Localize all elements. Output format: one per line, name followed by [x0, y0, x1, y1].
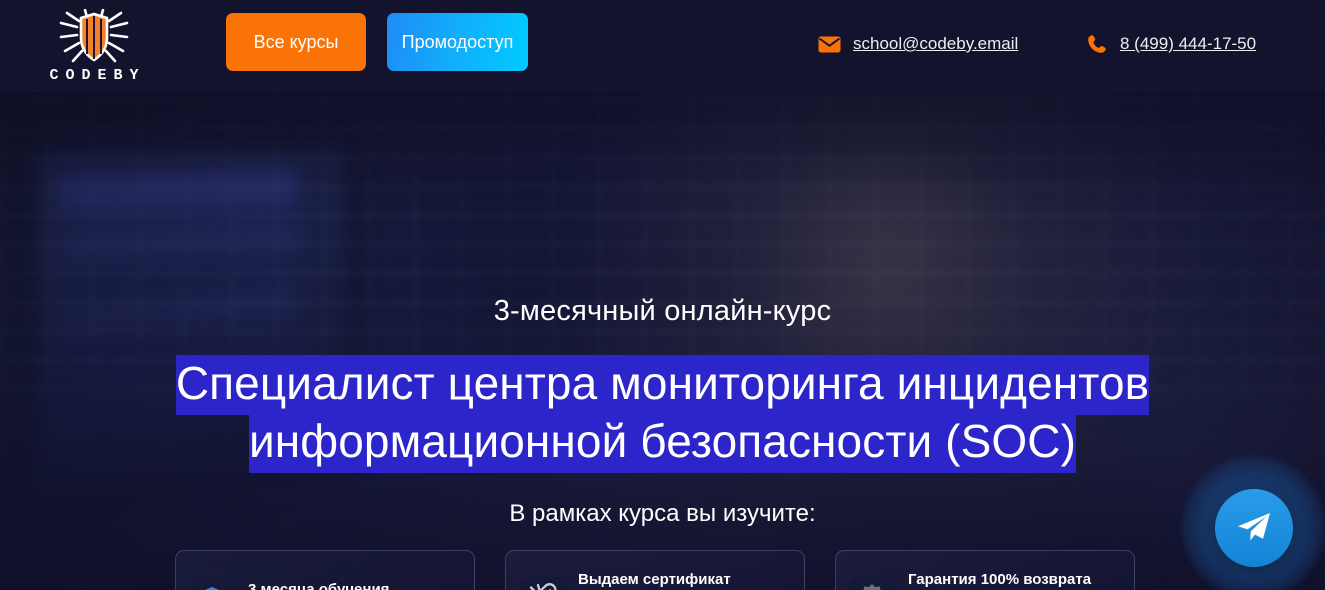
hero-title-line-2: информационной безопасности (SOC)	[249, 413, 1076, 473]
card-title: Гарантия 100% возврата	[908, 570, 1120, 589]
phone-link[interactable]: 8 (499) 444-17-50	[1086, 28, 1256, 60]
page-title: Специалист центра мониторинга инцидентов…	[0, 354, 1325, 470]
envelope-icon	[818, 36, 841, 53]
feature-card-duration: 3 месяца обучения с видеоуроками и задан…	[175, 550, 475, 590]
feature-card-certificate: Выдаем сертификат после успешной сдачи э…	[505, 550, 805, 590]
email-text: school@codeby.email	[853, 34, 1018, 54]
certificate-icon	[520, 577, 564, 590]
hero-eyebrow: 3-месячный онлайн-курс	[0, 295, 1325, 328]
phone-text: 8 (499) 444-17-50	[1120, 34, 1256, 54]
all-courses-button[interactable]: Все курсы	[226, 13, 366, 71]
telegram-fab-wrapper	[1182, 456, 1325, 590]
site-logo[interactable]: CODEBY	[38, 6, 150, 86]
telegram-button[interactable]	[1215, 489, 1293, 567]
telegram-paper-plane-icon	[1236, 511, 1272, 546]
hero-section: 3-месячный онлайн-курс Специалист центра…	[0, 92, 1325, 590]
hero-title-line-1: Специалист центра мониторинга инцидентов	[176, 355, 1149, 415]
feature-card-list: 3 месяца обучения с видеоуроками и задан…	[175, 550, 1150, 590]
logo-wordmark: CODEBY	[42, 67, 145, 84]
feature-card-guarantee: $ Гарантия 100% возврата средств в первы…	[835, 550, 1135, 590]
hero-subtitle: В рамках курса вы изучите:	[0, 500, 1325, 528]
promo-access-button[interactable]: Промодоступ	[387, 13, 528, 71]
spider-shield-logo-icon	[57, 9, 131, 65]
email-link[interactable]: school@codeby.email	[818, 28, 1018, 60]
money-back-icon: $	[850, 577, 894, 590]
card-title: Выдаем сертификат	[578, 570, 790, 589]
card-title: 3 месяца обучения	[248, 580, 452, 590]
phone-icon	[1086, 33, 1108, 55]
graduation-cap-icon	[190, 577, 234, 590]
site-header: CODEBY Все курсы Промодоступ school@code…	[0, 0, 1325, 92]
